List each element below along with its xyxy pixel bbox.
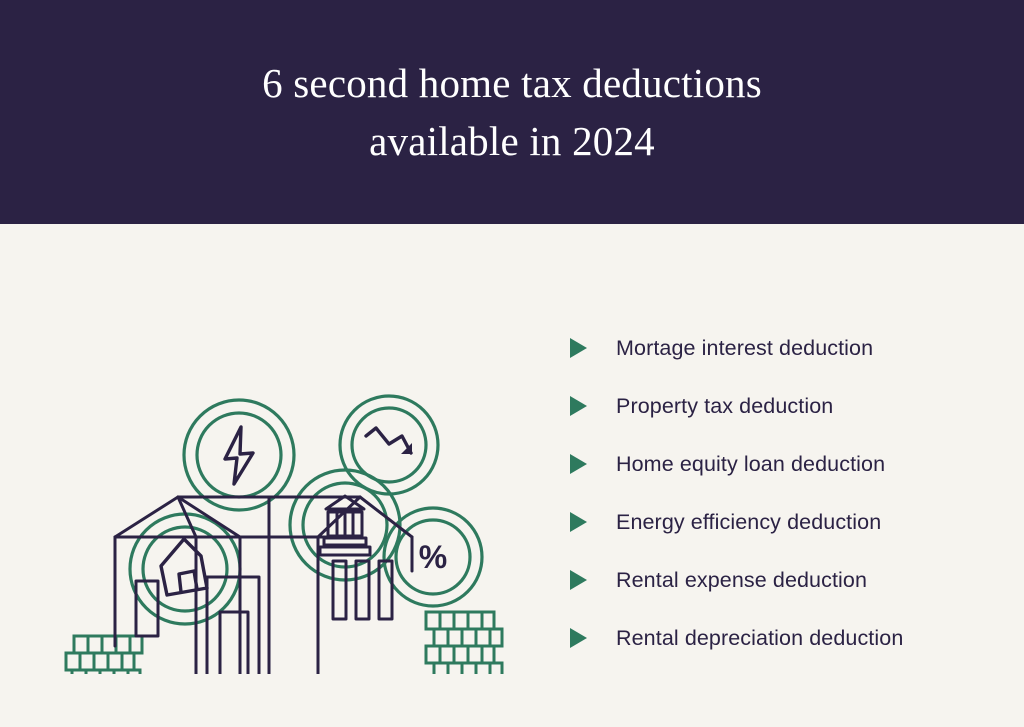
triangle-bullet-icon	[570, 396, 587, 416]
house-icon	[161, 539, 207, 595]
list-item[interactable]: Rental expense deduction	[562, 551, 992, 609]
page-title: 6 second home tax deductions available i…	[262, 54, 762, 170]
list-item[interactable]: Property tax deduction	[562, 377, 992, 435]
triangle-bullet-icon	[570, 338, 587, 358]
deduction-label: Energy efficiency deduction	[616, 510, 881, 535]
list-item[interactable]: Mortage interest deduction	[562, 319, 992, 377]
triangle-bullet-icon	[570, 454, 587, 474]
percent-icon: %	[419, 539, 447, 575]
house-line-drawing	[95, 497, 425, 674]
deduction-list: Mortage interest deduction Property tax …	[562, 319, 992, 667]
triangle-bullet-icon	[570, 512, 587, 532]
page-title-line-1: 6 second home tax deductions	[262, 54, 762, 112]
house-illustration: %	[60, 294, 530, 674]
header-banner: 6 second home tax deductions available i…	[0, 0, 1024, 224]
money-stack-left	[66, 636, 142, 674]
deduction-label: Property tax deduction	[616, 394, 833, 419]
trend-down-arrow-icon	[366, 428, 412, 454]
body-area: %	[0, 224, 1024, 727]
deduction-label: Rental depreciation deduction	[616, 626, 903, 651]
bank-building-icon	[320, 496, 370, 555]
list-item[interactable]: Home equity loan deduction	[562, 435, 992, 493]
list-item[interactable]: Rental depreciation deduction	[562, 609, 992, 667]
list-item[interactable]: Energy efficiency deduction	[562, 493, 992, 551]
coin-lightning	[184, 400, 294, 510]
coin-trend-down	[340, 396, 438, 494]
triangle-bullet-icon	[570, 570, 587, 590]
deduction-label: Mortage interest deduction	[616, 336, 873, 361]
coin-house	[130, 514, 240, 624]
lightning-bolt-icon	[225, 427, 253, 484]
infographic-poster: 6 second home tax deductions available i…	[0, 0, 1024, 727]
page-title-line-2: available in 2024	[262, 112, 762, 170]
deduction-label: Rental expense deduction	[616, 568, 867, 593]
svg-text:%: %	[419, 539, 447, 575]
coin-percent: %	[384, 508, 482, 606]
deduction-label: Home equity loan deduction	[616, 452, 885, 477]
triangle-bullet-icon	[570, 628, 587, 648]
money-stack-right	[426, 612, 502, 674]
